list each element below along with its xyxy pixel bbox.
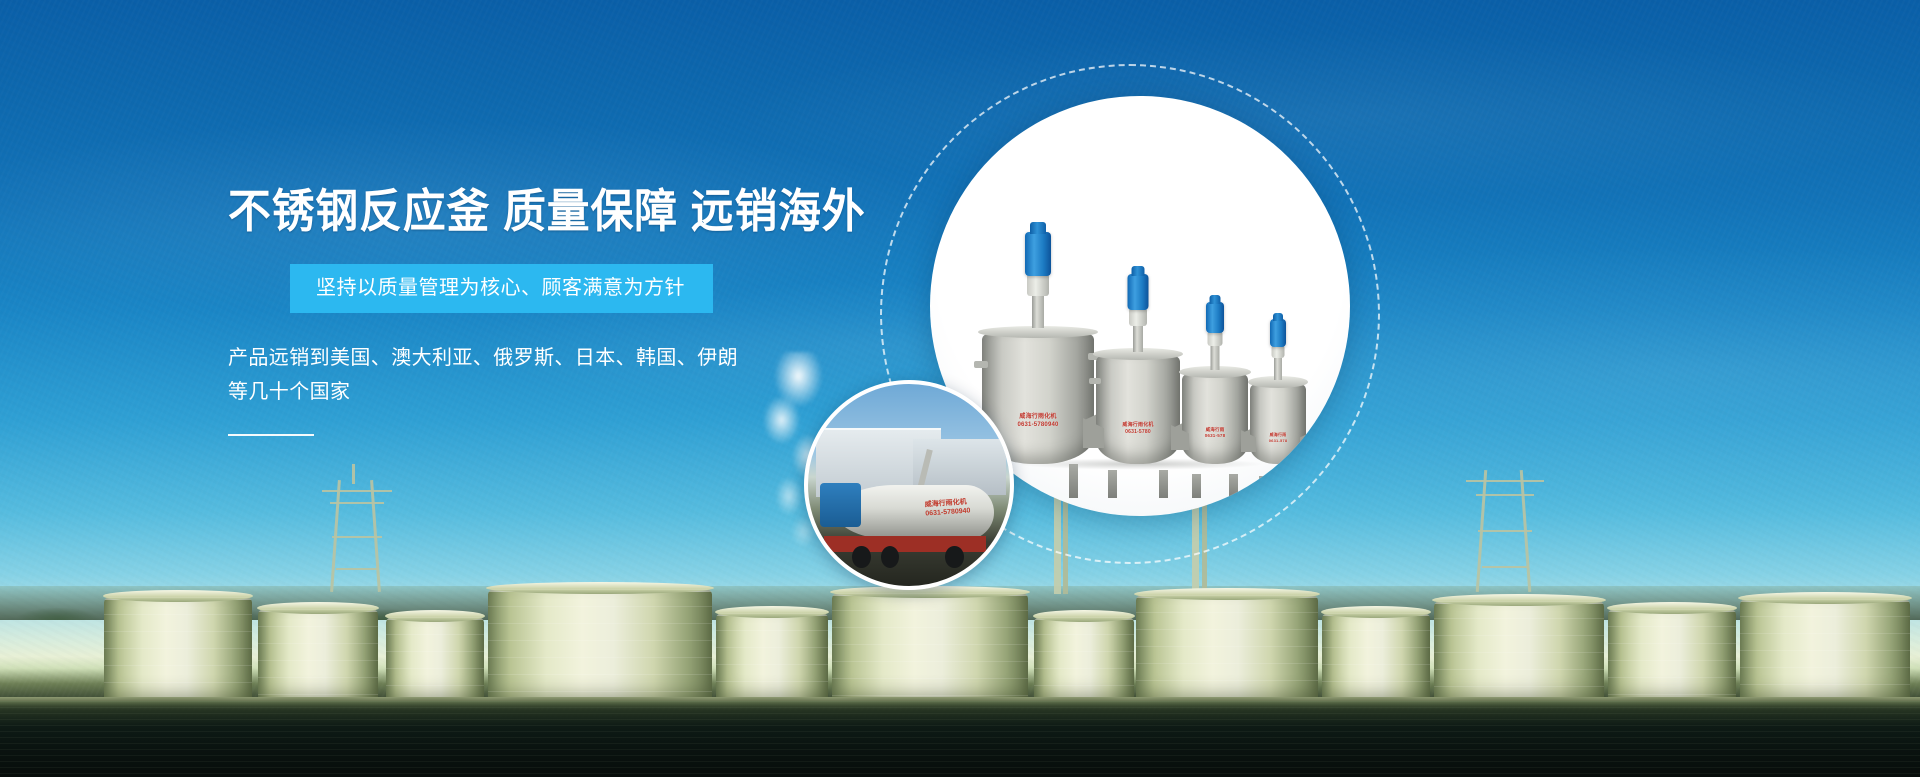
- vessel-brand-line1: 威海行雨: [1206, 427, 1225, 432]
- storage-tank: [104, 597, 252, 705]
- storage-tank: [1740, 599, 1910, 705]
- vessel-brand-line2: 0631-5780: [1125, 429, 1151, 435]
- storage-tank: [716, 613, 828, 705]
- vessel-brand-line2: 0631-578: [1269, 438, 1288, 443]
- storage-tank: [1034, 617, 1134, 705]
- hero-banner: 威海行雨化机 0631-5780940 威海行雨化机 0631: [0, 0, 1920, 777]
- storage-tank: [488, 589, 712, 705]
- decorative-divider-line: [228, 434, 314, 436]
- truck-wheel: [852, 546, 870, 568]
- storage-tank: [832, 593, 1028, 705]
- banner-subtitle-bar: 坚持以质量管理为核心、顾客满意为方针: [290, 264, 713, 313]
- vessel-brand-line1: 威海行雨化机: [1122, 422, 1153, 428]
- banner-description-line-2: 等几十个国家: [228, 375, 768, 409]
- storage-tank: [258, 609, 378, 705]
- vessel-brand-line2: 0631-578: [1205, 433, 1226, 438]
- banner-copy: 不锈钢反应釜 质量保障 远销海外 坚持以质量管理为核心、顾客满意为方针 产品远销…: [228, 188, 948, 436]
- water-foreground: [0, 701, 1920, 777]
- storage-tank: [1434, 601, 1604, 705]
- tanker-brand-label: 威海行雨化机 0631-5780940: [925, 498, 971, 519]
- banner-description: 产品远销到美国、澳大利亚、俄罗斯、日本、韩国、伊朗 等几十个国家: [228, 341, 768, 410]
- vessel-brand-line1: 威海行雨: [1270, 432, 1287, 437]
- vessel-brand-line1: 威海行雨化机: [1019, 414, 1056, 420]
- reactor-vessel-4: 威海行雨 0631-578: [1250, 344, 1306, 464]
- storage-tank: [1322, 613, 1430, 705]
- banner-description-line-1: 产品远销到美国、澳大利亚、俄罗斯、日本、韩国、伊朗: [228, 341, 768, 375]
- banner-headline: 不锈钢反应釜 质量保障 远销海外: [228, 188, 898, 236]
- storage-tank: [386, 617, 484, 705]
- storage-tank: [1136, 595, 1318, 705]
- truck-cab: [820, 483, 860, 527]
- vessel-brand-line2: 0631-5780940: [1017, 422, 1058, 428]
- reactor-vessel-3: 威海行雨 0631-578: [1182, 332, 1248, 464]
- reactor-vessel-2: 威海行雨化机 0631-5780: [1096, 314, 1180, 464]
- storage-tank: [1608, 609, 1736, 705]
- truck-wheel: [945, 546, 963, 568]
- truck-wheel: [881, 546, 899, 568]
